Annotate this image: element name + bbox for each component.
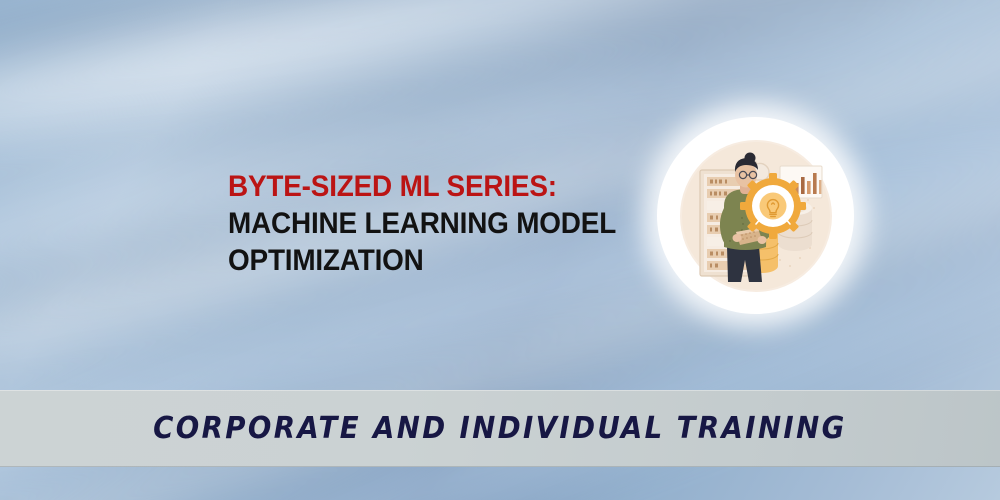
illustration-scene — [680, 140, 832, 292]
headline-line-1: MACHINE LEARNING MODEL — [228, 205, 619, 242]
person-hair-bun — [744, 152, 755, 163]
person-hand-right — [757, 236, 766, 244]
bottom-ribbon: CORPORATE AND INDIVIDUAL TRAINING — [0, 390, 1000, 467]
headline-eyebrow: BYTE-SIZED ML SERIES: — [228, 168, 619, 205]
ml-model-optimization-illustration — [657, 117, 854, 314]
marketing-banner: BYTE-SIZED ML SERIES: MACHINE LEARNING M… — [0, 0, 1000, 500]
gear-lightbulb-badge — [740, 173, 806, 239]
headline-block: BYTE-SIZED ML SERIES: MACHINE LEARNING M… — [228, 168, 648, 279]
headline-line-2: OPTIMIZATION — [228, 242, 619, 279]
person-hand-left — [732, 234, 741, 242]
ribbon-text: CORPORATE AND INDIVIDUAL TRAINING — [153, 411, 846, 446]
